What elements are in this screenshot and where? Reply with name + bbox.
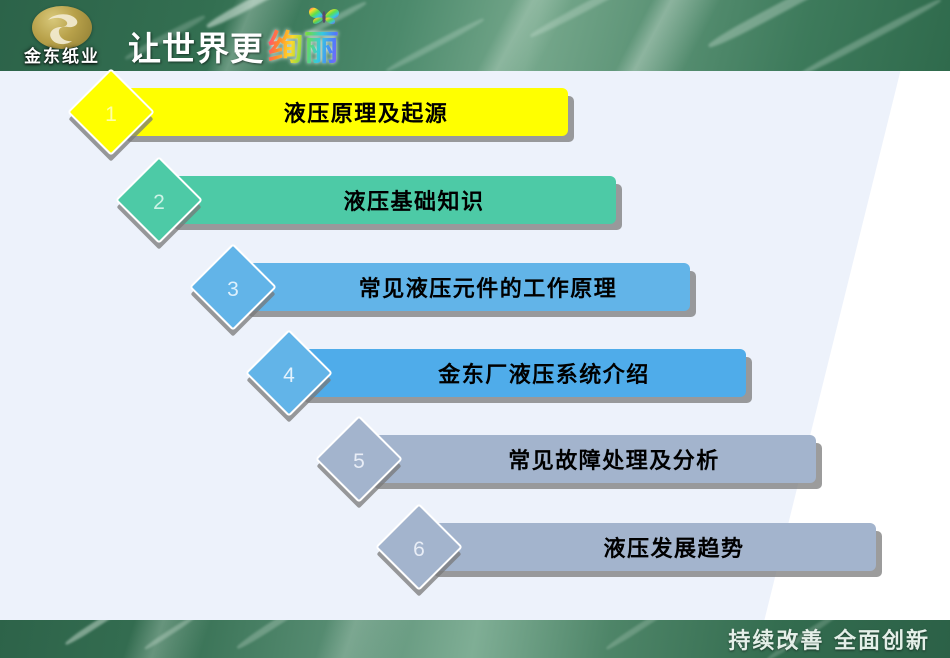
agenda-item-5[interactable]: 常见故障处理及分析 5	[328, 435, 848, 483]
agenda-bar[interactable]: 常见液压元件的工作原理	[240, 263, 690, 311]
footer-brush-streak	[143, 620, 196, 651]
agenda-number-text: 1	[80, 84, 142, 146]
rainbow-butterfly-icon	[307, 4, 341, 30]
agenda-bar[interactable]: 液压发展趋势	[426, 523, 876, 571]
header-brush-streak	[706, 0, 843, 51]
agenda-number-diamond[interactable]: 6	[375, 503, 463, 591]
agenda-item-2[interactable]: 液压基础知识 2	[128, 176, 648, 224]
company-logo: 金东纸业	[8, 4, 116, 68]
agenda-bar[interactable]: 液压基础知识	[166, 176, 616, 224]
agenda-number-diamond[interactable]: 4	[245, 329, 333, 417]
header-brush-streak	[798, 0, 943, 71]
agenda-number-text: 3	[202, 259, 264, 321]
agenda-bar[interactable]: 常见故障处理及分析	[366, 435, 816, 483]
footer-brush-streak	[235, 620, 314, 651]
header-band: 金东纸业 让世界更 绚丽	[0, 0, 950, 71]
agenda-number-text: 2	[128, 172, 190, 234]
logo-brand-text: 金东纸业	[8, 42, 116, 67]
header-brush-streak	[529, 0, 692, 40]
agenda-list: 液压原理及起源 1 液压基础知识 2 常见液压元件的工作原理 3 金东	[0, 71, 950, 620]
agenda-number-text: 4	[258, 345, 320, 407]
agenda-item-6[interactable]: 液压发展趋势 6	[388, 523, 908, 571]
agenda-number-diamond[interactable]: 2	[115, 156, 203, 244]
agenda-item-3[interactable]: 常见液压元件的工作原理 3	[202, 263, 722, 311]
agenda-item-label: 液压发展趋势	[557, 531, 744, 563]
footer-brush-streak	[605, 620, 675, 651]
footer-brush-streak	[64, 620, 126, 647]
slogan-plain-text: 让世界更	[128, 22, 264, 70]
agenda-number-diamond[interactable]: 3	[189, 243, 277, 331]
agenda-item-4[interactable]: 金东厂液压系统介绍 4	[258, 349, 778, 397]
header-brush-streak	[385, 17, 485, 71]
presentation-slide: 金东纸业 让世界更 绚丽	[0, 0, 950, 658]
agenda-number-diamond[interactable]: 1	[67, 68, 155, 156]
footer-band: 持续改善 全面创新	[0, 620, 950, 658]
footer-slogan: 持续改善 全面创新	[728, 623, 930, 655]
agenda-number-diamond[interactable]: 5	[315, 415, 403, 503]
agenda-item-label: 常见故障处理及分析	[462, 443, 720, 475]
agenda-bar[interactable]: 液压原理及起源	[118, 88, 568, 136]
agenda-number-text: 6	[388, 519, 450, 581]
agenda-bar[interactable]: 金东厂液压系统介绍	[296, 349, 746, 397]
agenda-item-1[interactable]: 液压原理及起源 1	[80, 88, 600, 136]
agenda-item-label: 常见液压元件的工作原理	[313, 271, 618, 303]
agenda-number-text: 5	[328, 431, 390, 493]
agenda-item-label: 液压原理及起源	[238, 96, 449, 128]
agenda-item-label: 金东厂液压系统介绍	[392, 357, 650, 389]
agenda-item-label: 液压基础知识	[297, 184, 484, 216]
